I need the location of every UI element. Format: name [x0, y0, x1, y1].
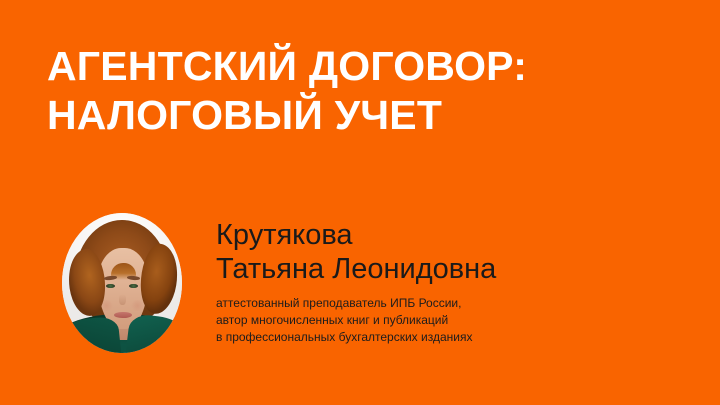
- credential-line-2: автор многочисленных книг и публикаций: [216, 312, 686, 329]
- portrait-lips: [114, 312, 132, 318]
- presentation-slide: АГЕНТСКИЙ ДОГОВОР: НАЛОГОВЫЙ УЧЕТ: [0, 0, 720, 405]
- title-line-1: АГЕНТСКИЙ ДОГОВОР:: [47, 42, 687, 91]
- speaker-info: Крутякова Татьяна Леонидовна аттестованн…: [216, 218, 686, 346]
- credential-line-1: аттестованный преподаватель ИПБ России,: [216, 295, 686, 312]
- slide-title: АГЕНТСКИЙ ДОГОВОР: НАЛОГОВЫЙ УЧЕТ: [47, 42, 687, 140]
- portrait-photo-image: [62, 213, 182, 353]
- speaker-surname: Крутякова: [216, 218, 686, 252]
- credential-line-3: в профессиональных бухгалтерских издания…: [216, 329, 686, 346]
- title-line-2: НАЛОГОВЫЙ УЧЕТ: [47, 91, 687, 140]
- speaker-given-name: Татьяна Леонидовна: [216, 252, 686, 286]
- speaker-credentials: аттестованный преподаватель ИПБ России, …: [216, 295, 686, 346]
- portrait-cheek-left: [99, 300, 113, 311]
- portrait-nose: [119, 294, 126, 305]
- speaker-portrait: [62, 213, 182, 353]
- portrait-cheek-right: [130, 300, 144, 311]
